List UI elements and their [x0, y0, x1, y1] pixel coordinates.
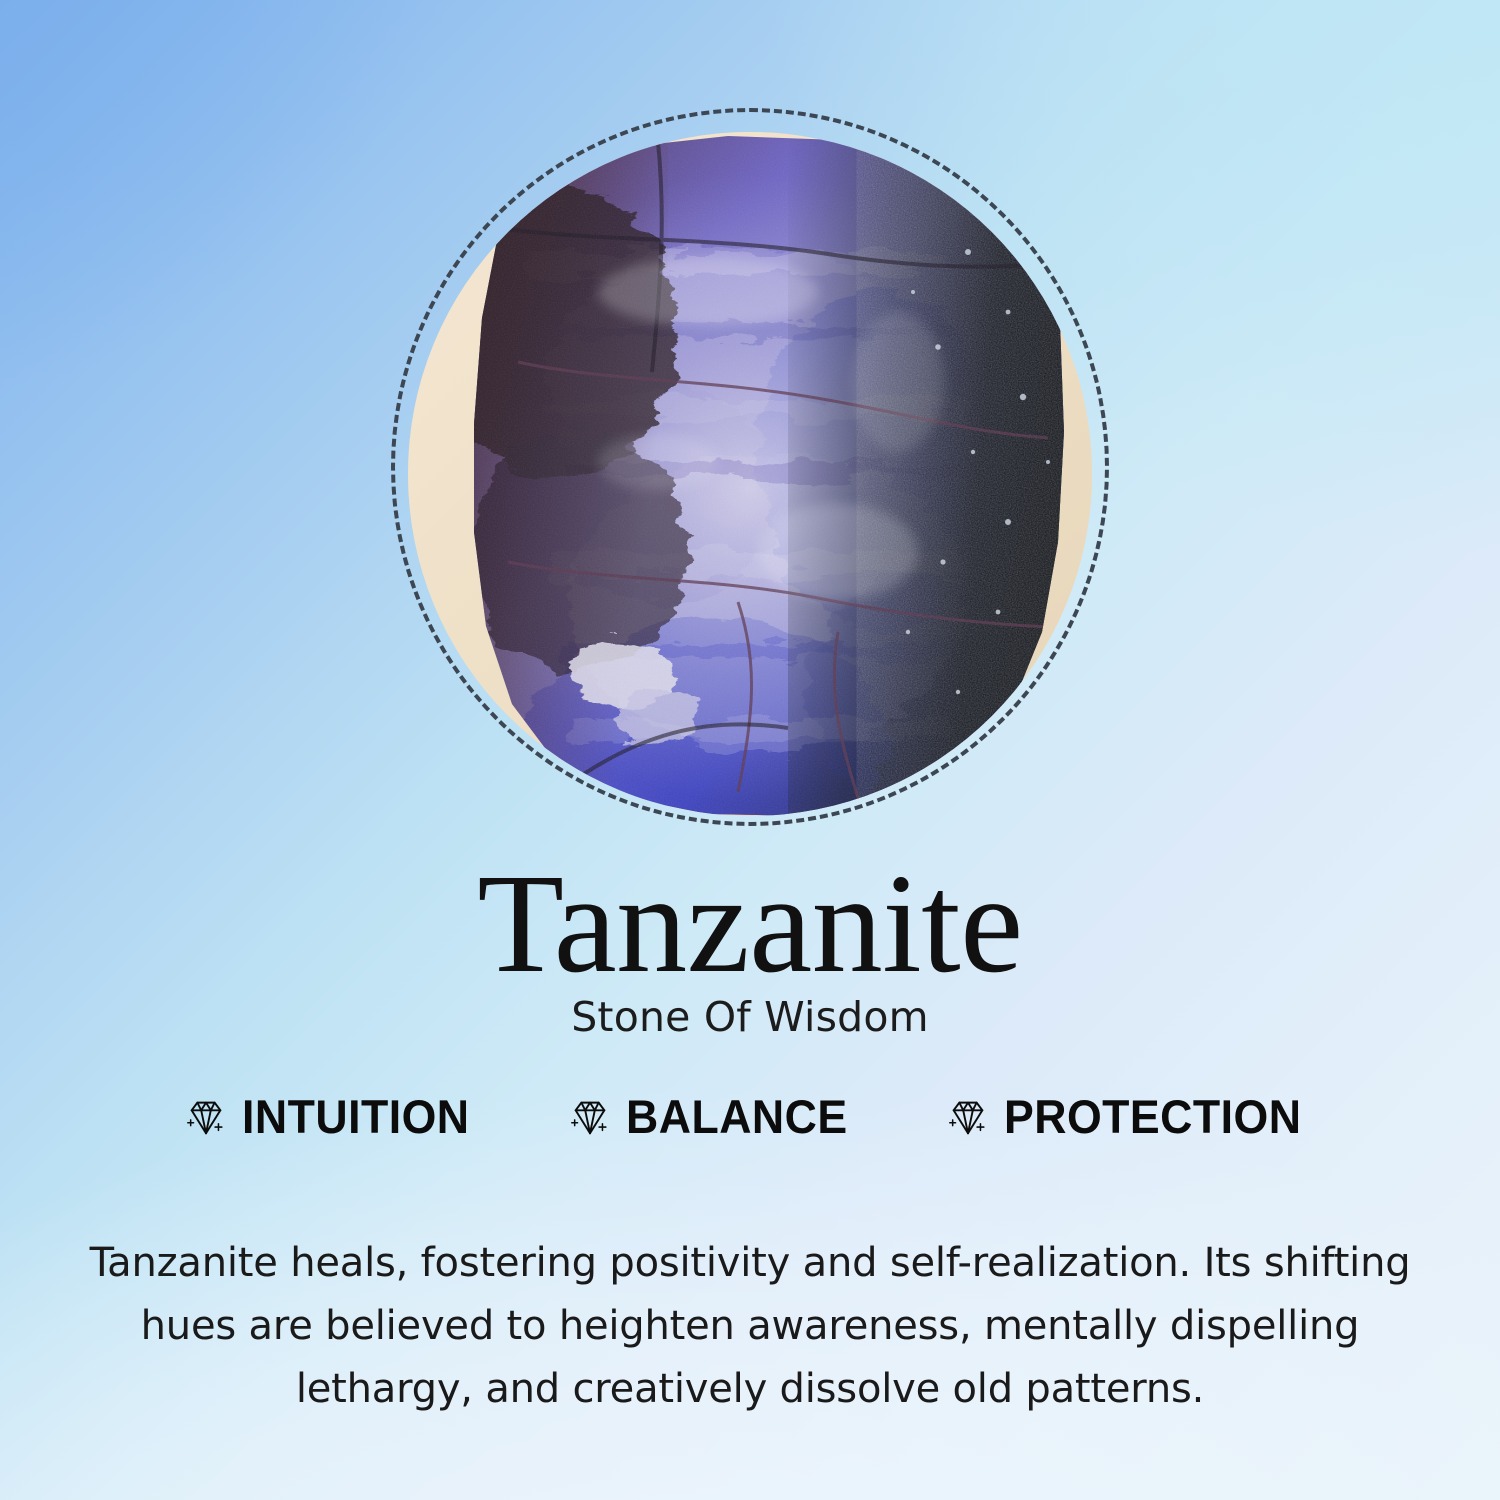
hero-stone-block	[0, 108, 1500, 842]
keyword-item-intuition: INTUITION	[183, 1093, 481, 1140]
keyword-item-balance: BALANCE	[567, 1093, 859, 1140]
diamond-icon	[183, 1094, 229, 1140]
keyword-label: BALANCE	[626, 1093, 848, 1140]
diamond-icon	[567, 1094, 613, 1140]
gemstone-info-card: Tanzanite Stone Of Wisdom INTUITION	[0, 0, 1500, 1500]
keyword-item-protection: PROTECTION	[945, 1093, 1317, 1140]
stone-photo-artwork	[408, 132, 1092, 816]
keyword-label: INTUITION	[242, 1093, 470, 1140]
keyword-list: INTUITION BALANCE	[0, 1093, 1500, 1140]
keyword-label: PROTECTION	[1004, 1093, 1301, 1140]
page-title: Tanzanite	[0, 852, 1500, 994]
diamond-icon	[945, 1094, 991, 1140]
description-text: Tanzanite heals, fostering positivity an…	[85, 1232, 1415, 1421]
stone-photo	[408, 132, 1092, 816]
page-subtitle: Stone Of Wisdom	[0, 993, 1500, 1041]
